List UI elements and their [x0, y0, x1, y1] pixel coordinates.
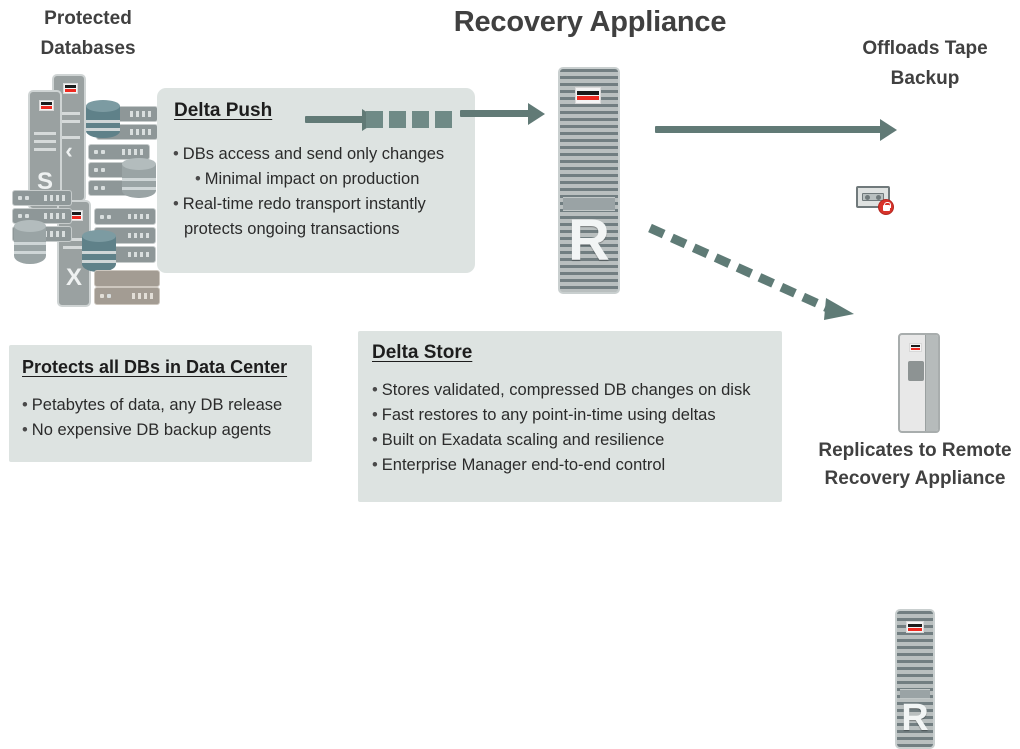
delta-push-bullet-list: •DBs access and send only changes •Minim…	[173, 142, 473, 242]
database-disk-icon	[86, 100, 120, 138]
tape-library-icon	[898, 333, 940, 433]
delta-push-panel: Delta Push •DBs access and send only cha…	[157, 88, 475, 273]
diagram-canvas: Recovery Appliance Protected Databases ‹…	[0, 0, 1020, 522]
delta-push-title: Delta Push	[174, 100, 272, 122]
list-item: •Built on Exadata scaling and resilience	[372, 428, 780, 453]
list-item: •Stores validated, compressed DB changes…	[372, 378, 780, 403]
protects-all-dbs-bullet-list: •Petabytes of data, any DB release •No e…	[22, 393, 307, 443]
delta-store-panel: Delta Store •Stores validated, compresse…	[358, 331, 782, 502]
delta-push-arrow-line	[305, 116, 365, 123]
remote-heading-line1: Replicates to Remote	[810, 438, 1020, 463]
server-unit	[94, 270, 160, 287]
database-disk-icon	[122, 158, 156, 198]
delta-block	[366, 111, 383, 128]
rack-divider	[900, 689, 930, 699]
protected-databases-heading-line1: Protected	[8, 6, 168, 31]
remote-recovery-appliance-rack: R	[895, 609, 935, 749]
delta-block	[412, 111, 429, 128]
delta-block	[435, 111, 452, 128]
server-unit	[94, 287, 160, 305]
oracle-badge-icon	[39, 100, 54, 111]
tape-backup-heading-line1: Offloads Tape	[830, 36, 1020, 61]
tape-arrow-line	[655, 126, 885, 133]
server-unit	[12, 190, 72, 206]
lock-icon	[878, 199, 894, 215]
list-item: •Petabytes of data, any DB release	[22, 393, 307, 418]
protected-databases-heading-line2: Databases	[8, 36, 168, 61]
replication-dashed-arrow	[640, 210, 870, 335]
oracle-badge-icon	[63, 83, 78, 94]
oracle-badge-icon	[575, 87, 601, 104]
oracle-badge-icon	[906, 621, 924, 633]
list-item: protects ongoing transactions	[173, 217, 473, 242]
delta-store-title: Delta Store	[372, 342, 472, 364]
list-item: •Minimal impact on production	[173, 167, 473, 192]
tape-library-side-panel	[925, 335, 938, 431]
list-item: •No expensive DB backup agents	[22, 418, 307, 443]
protected-databases-cluster: ‹ S X	[12, 72, 164, 307]
protects-all-dbs-panel: Protects all DBs in Data Center •Petabyt…	[9, 345, 312, 462]
oracle-badge-icon	[909, 343, 922, 352]
protects-all-dbs-title: Protects all DBs in Data Center	[22, 357, 287, 378]
remote-heading-line2: Recovery Appliance	[810, 466, 1020, 491]
tape-backup-heading-line2: Backup	[830, 66, 1020, 91]
list-item: •Fast restores to any point-in-time usin…	[372, 403, 780, 428]
recovery-appliance-rack: R	[558, 67, 620, 294]
remote-appliance-letter: R	[897, 699, 933, 737]
delta-block	[389, 111, 406, 128]
tape-library-slot	[908, 361, 924, 381]
list-item: •Enterprise Manager end-to-end control	[372, 453, 780, 478]
list-item: •Real-time redo transport instantly	[173, 192, 473, 217]
appliance-letter: R	[560, 212, 618, 270]
page-title: Recovery Appliance	[360, 6, 820, 39]
list-item: •DBs access and send only changes	[173, 142, 473, 167]
push-to-appliance-arrow-line	[460, 110, 532, 117]
delta-store-bullet-list: •Stores validated, compressed DB changes…	[372, 378, 780, 478]
server-unit	[94, 208, 156, 225]
tape-arrow-head	[880, 119, 897, 141]
push-to-appliance-arrow-head	[528, 103, 545, 125]
database-disk-icon	[14, 220, 46, 264]
database-disk-icon	[82, 230, 116, 272]
